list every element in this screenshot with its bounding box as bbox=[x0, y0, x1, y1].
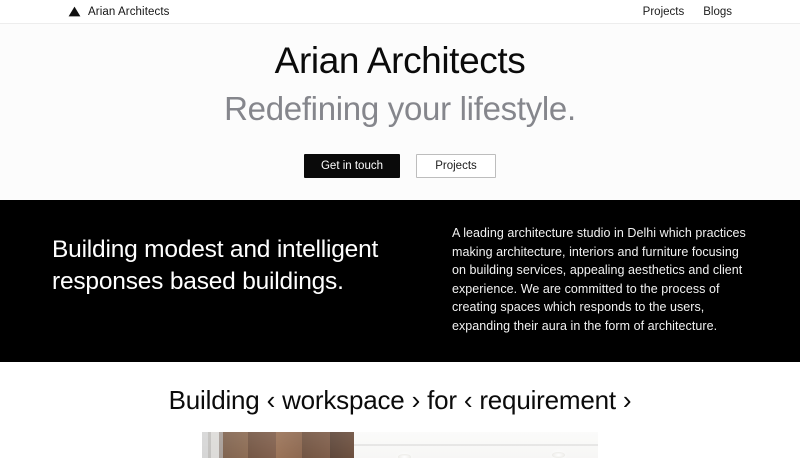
hero-subtitle: Redefining your lifestyle. bbox=[224, 91, 576, 128]
brand-logo-link[interactable]: Arian Architects bbox=[68, 6, 170, 18]
showcase-image bbox=[202, 432, 598, 458]
showcase-heading-part2: for bbox=[427, 385, 457, 415]
landing-page: Arian Architects Projects Blogs Arian Ar… bbox=[0, 0, 800, 458]
hero-section: Arian Architects Redefining your lifesty… bbox=[0, 24, 800, 200]
main-nav: Projects Blogs bbox=[643, 6, 732, 18]
hero-title: Arian Architects bbox=[275, 40, 526, 81]
showcase-heading-token-requirement: ‹ requirement › bbox=[464, 385, 632, 415]
interior-photo bbox=[202, 432, 598, 458]
about-band: Building modest and intelligent response… bbox=[0, 200, 800, 362]
about-paragraph: A leading architecture studio in Delhi w… bbox=[452, 224, 750, 335]
photo-wood-cabinetry bbox=[202, 432, 354, 458]
photo-downlight bbox=[398, 454, 411, 458]
showcase-heading-token-workspace: ‹ workspace › bbox=[267, 385, 420, 415]
showcase-heading: Building ‹ workspace › for ‹ requirement… bbox=[0, 385, 800, 416]
site-header: Arian Architects Projects Blogs bbox=[0, 0, 800, 24]
projects-button[interactable]: Projects bbox=[416, 154, 496, 178]
nav-link-blogs[interactable]: Blogs bbox=[703, 6, 732, 18]
photo-downlight bbox=[552, 452, 565, 458]
showcase-section: Building ‹ workspace › for ‹ requirement… bbox=[0, 362, 800, 458]
brand-name: Arian Architects bbox=[88, 6, 170, 18]
triangle-logo-icon bbox=[68, 6, 81, 17]
about-heading: Building modest and intelligent response… bbox=[52, 234, 382, 298]
hero-actions: Get in touch Projects bbox=[304, 154, 496, 178]
get-in-touch-button[interactable]: Get in touch bbox=[304, 154, 400, 178]
nav-link-projects[interactable]: Projects bbox=[643, 6, 685, 18]
photo-ceiling-edge bbox=[354, 444, 598, 446]
showcase-heading-part1: Building bbox=[169, 385, 260, 415]
